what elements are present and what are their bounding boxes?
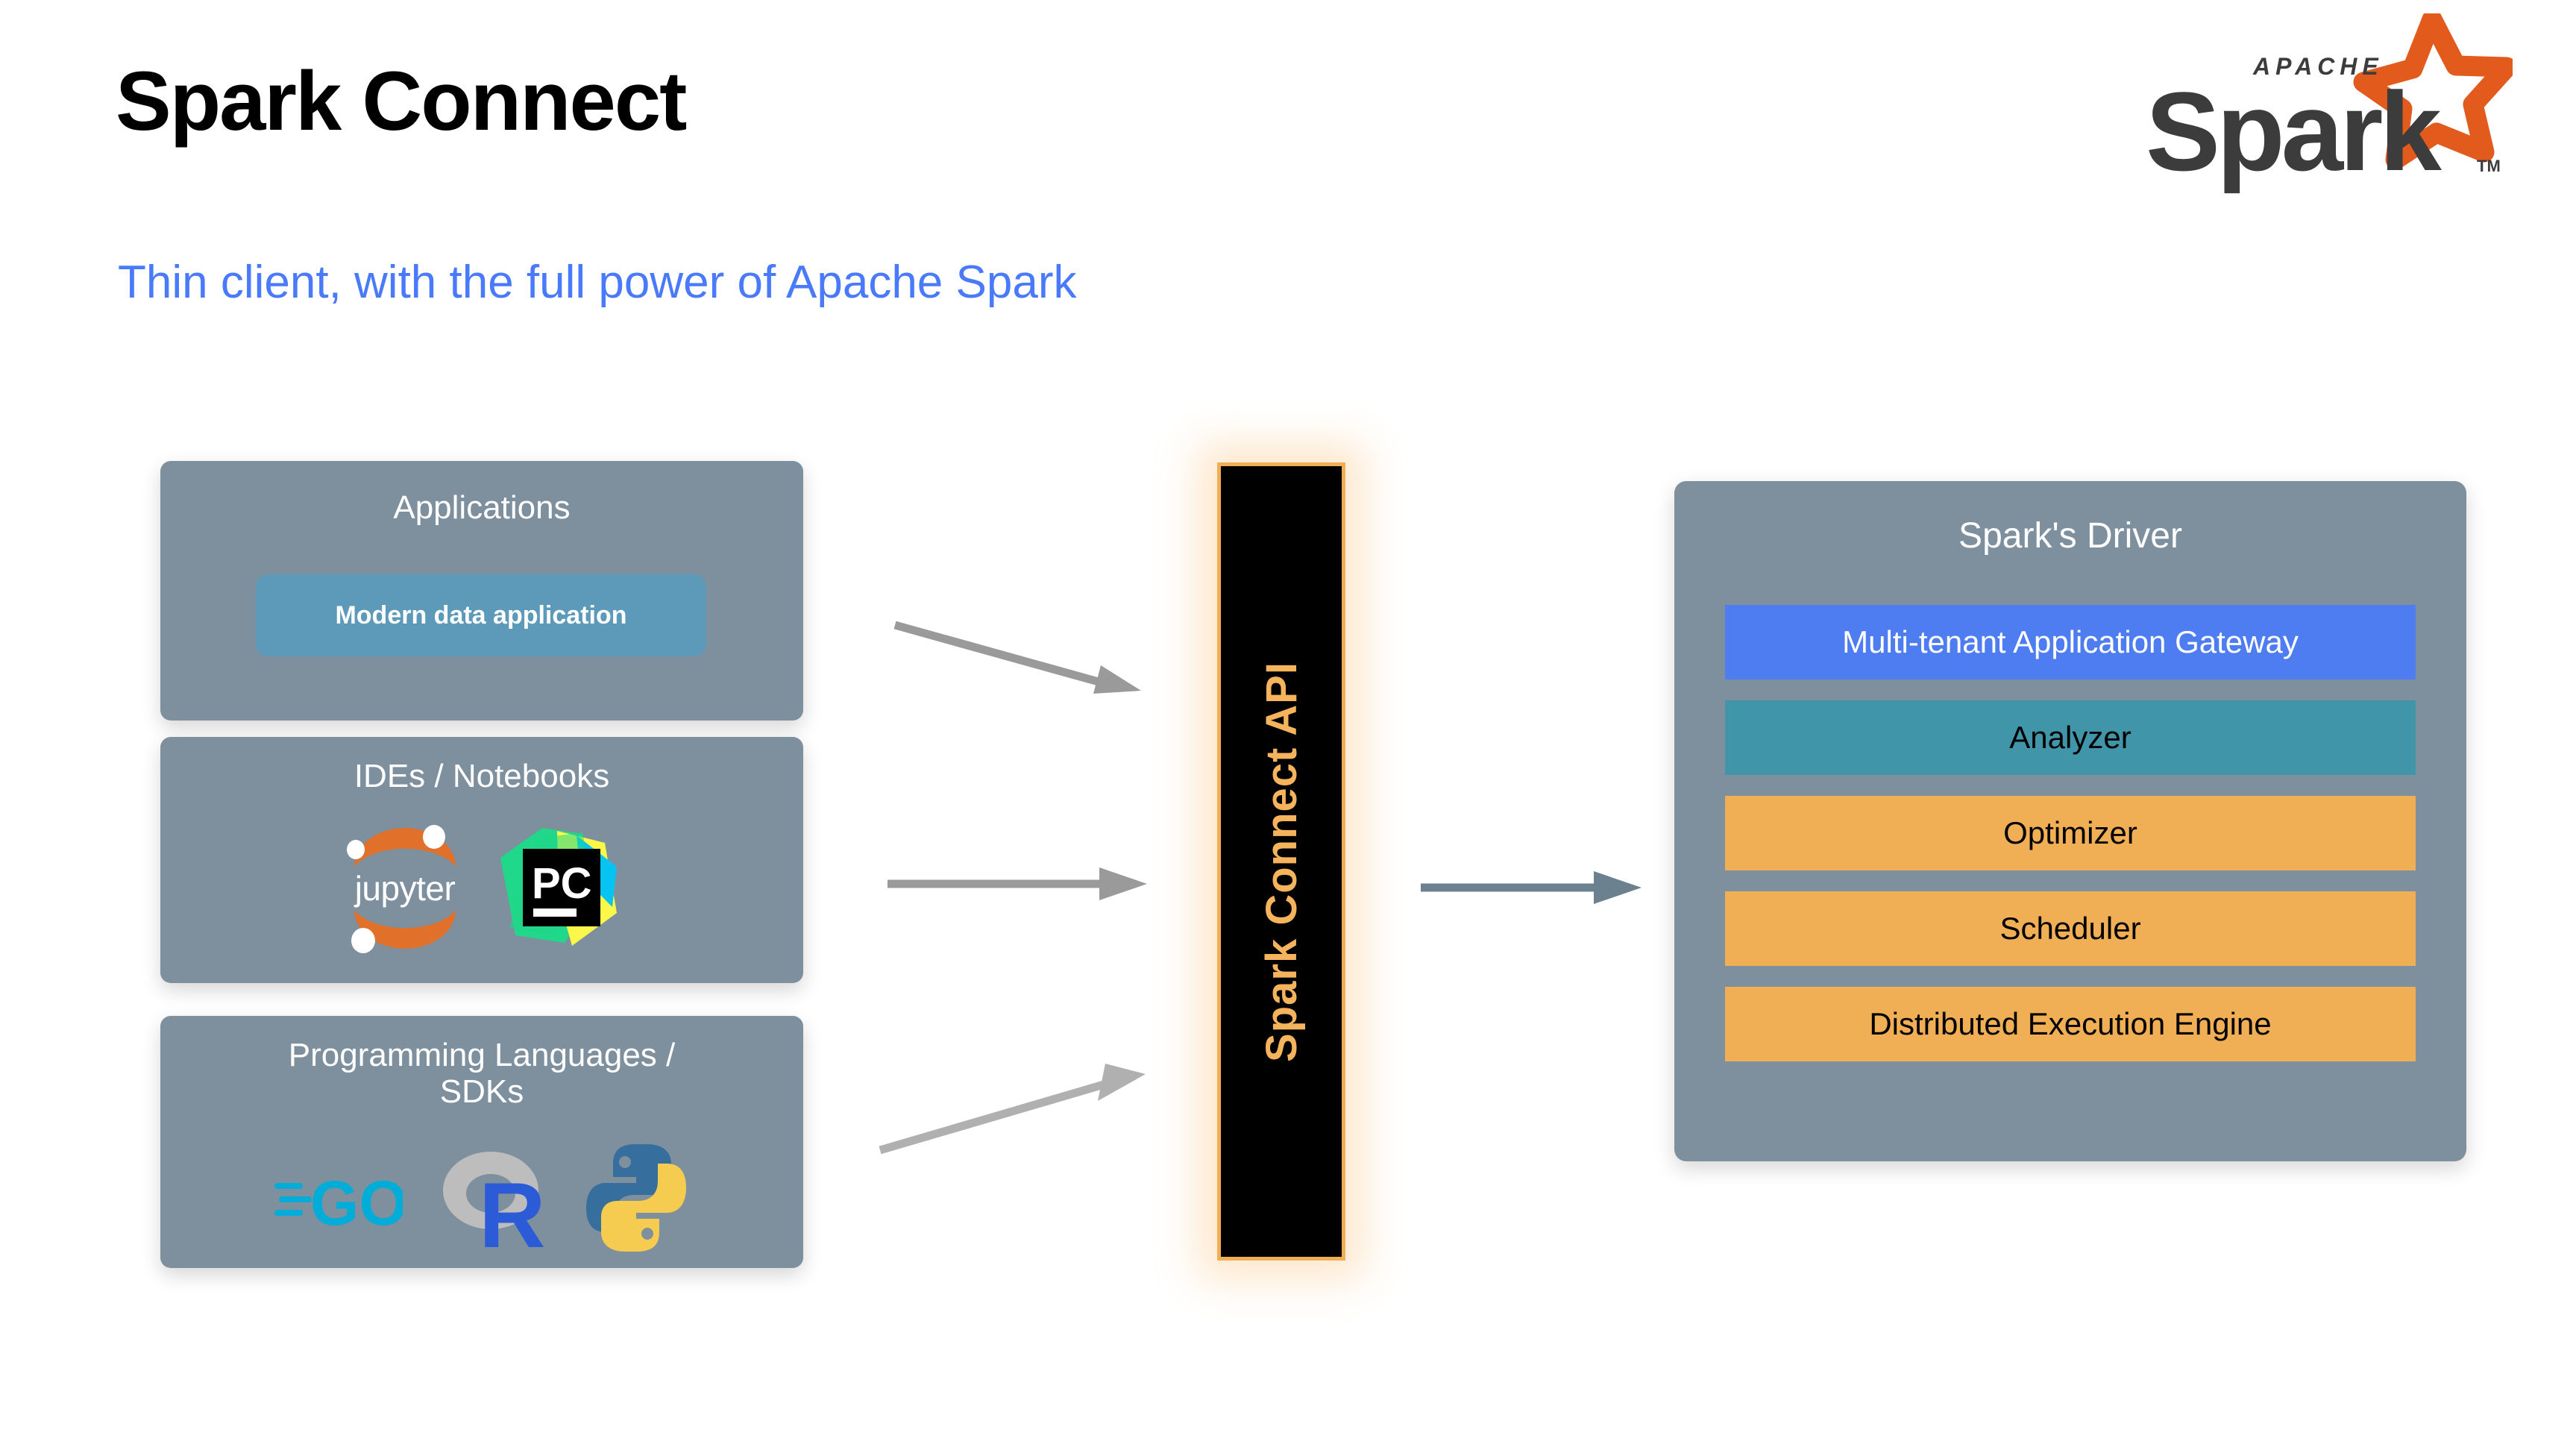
- driver-row-optimizer-label: Optimizer: [2003, 815, 2137, 851]
- go-logo: GO: [274, 1161, 403, 1235]
- svg-text:TM: TM: [2477, 157, 2501, 175]
- jupyter-wordmark: jupyter: [342, 868, 468, 908]
- driver-row-analyzer-label: Analyzer: [2009, 720, 2131, 756]
- card-programming-languages-title: Programming Languages / SDKs: [160, 1037, 803, 1111]
- jupyter-dot-top-icon: [423, 825, 445, 849]
- modern-data-application-box[interactable]: Modern data application: [256, 574, 706, 656]
- arrow-ides-to-api: [888, 861, 1149, 906]
- driver-row-analyzer[interactable]: Analyzer: [1725, 700, 2416, 775]
- arrow-api-to-driver: [1421, 865, 1644, 910]
- driver-row-scheduler-label: Scheduler: [1999, 911, 2140, 947]
- card-programming-languages-title-line2: SDKs: [440, 1073, 524, 1110]
- jupyter-dot-left-icon: [347, 840, 365, 859]
- card-applications-title: Applications: [160, 489, 803, 526]
- pycharm-icon: PC: [493, 823, 621, 952]
- jupyter-logo: jupyter: [342, 820, 468, 955]
- card-ides-notebooks[interactable]: IDEs / Notebooks jupyter PC: [160, 737, 803, 983]
- driver-row-scheduler[interactable]: Scheduler: [1725, 891, 2416, 966]
- card-ides-notebooks-title: IDEs / Notebooks: [160, 758, 803, 794]
- arrow-applications-to-api: [895, 619, 1149, 701]
- svg-text:Spark: Spark: [2146, 69, 2442, 194]
- language-logo-row: GO R: [160, 1141, 803, 1255]
- driver-row-execution-engine[interactable]: Distributed Execution Engine: [1725, 987, 2416, 1061]
- svg-text:PC: PC: [532, 859, 592, 908]
- r-icon: R: [437, 1141, 549, 1255]
- arrow-languages-to-api: [880, 1059, 1149, 1156]
- driver-row-gateway-label: Multi-tenant Application Gateway: [1842, 624, 2299, 660]
- spark-connect-api-bar[interactable]: Spark Connect API: [1217, 462, 1345, 1261]
- page-subtitle: Thin client, with the full power of Apac…: [118, 260, 1076, 306]
- r-logo: R: [437, 1141, 549, 1255]
- card-spark-driver[interactable]: Spark's Driver Multi-tenant Application …: [1674, 481, 2466, 1161]
- driver-row-execution-engine-label: Distributed Execution Engine: [1869, 1006, 2271, 1042]
- ide-logo-row: jupyter PC: [160, 820, 803, 955]
- svg-text:R: R: [479, 1164, 546, 1255]
- svg-text:GO: GO: [310, 1168, 403, 1235]
- jupyter-dot-bottom-icon: [351, 928, 375, 953]
- pycharm-logo: PC: [493, 823, 621, 952]
- go-icon: GO: [274, 1161, 403, 1235]
- spark-driver-row-list: Multi-tenant Application Gateway Analyze…: [1725, 605, 2416, 1082]
- spark-driver-title: Spark's Driver: [1674, 515, 2466, 556]
- card-programming-languages[interactable]: Programming Languages / SDKs GO R: [160, 1016, 803, 1268]
- driver-row-gateway[interactable]: Multi-tenant Application Gateway: [1725, 605, 2416, 679]
- python-icon: [583, 1141, 689, 1255]
- driver-row-optimizer[interactable]: Optimizer: [1725, 796, 2416, 870]
- page-title: Spark Connect: [116, 60, 685, 143]
- apache-spark-logo-icon: APACHE Spark TM: [2140, 13, 2513, 215]
- apache-spark-logo: APACHE Spark TM: [2140, 13, 2513, 215]
- card-applications[interactable]: Applications Modern data application: [160, 461, 803, 721]
- card-programming-languages-title-line1: Programming Languages /: [289, 1037, 676, 1073]
- python-logo: [583, 1141, 689, 1255]
- spark-connect-api-label: Spark Connect API: [1257, 662, 1307, 1062]
